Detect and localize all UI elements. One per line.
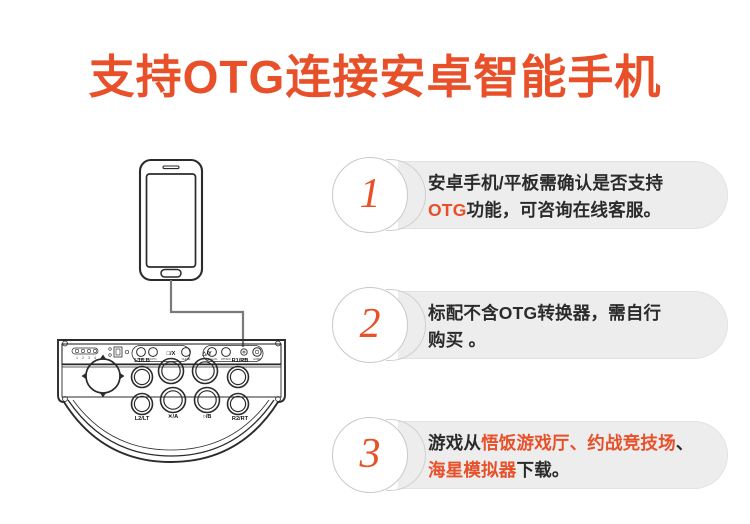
svg-text:L2/LT: L2/LT [135, 416, 150, 422]
svg-text:ATTACK: ATTACK [221, 357, 231, 361]
button-r1-rb: R1/RB [228, 358, 249, 388]
step-number-circle-2: 2 [332, 287, 408, 363]
svg-text:4: 4 [94, 356, 96, 360]
device-illustration: 1 2 3 4 TURBO [40, 150, 330, 500]
step-text-3: 游戏从悟饭游戏厅、约战竞技场、 海星模拟器下载。 [428, 427, 728, 487]
step-number-3: 3 [333, 418, 407, 492]
button-cross-a: ✕/A [161, 388, 186, 421]
step-number-circle-1: 1 [332, 157, 408, 233]
step-text-line: 游戏从悟饭游戏厅、约战竞技场、 [428, 430, 728, 457]
svg-text:2: 2 [82, 356, 84, 360]
step-number-2: 2 [333, 288, 407, 362]
svg-text:L1/LB: L1/LB [134, 358, 150, 364]
step-text-line: 海星模拟器下载。 [428, 457, 728, 484]
svg-text:○/B: ○/B [203, 414, 212, 420]
joystick [82, 355, 125, 398]
svg-text:3: 3 [88, 356, 90, 360]
step-text-line: 购买 。 [428, 327, 728, 354]
mode-switch-block [109, 347, 129, 357]
button-r2-rt: R2/RT [228, 394, 249, 423]
step-text-run: 游戏从 [428, 433, 481, 453]
step-item-2: 2 标配不含OTG转换器，需自行 购买 。 [330, 285, 730, 377]
button-l1-lb: L1/LB [132, 358, 153, 388]
step-text-2: 标配不含OTG转换器，需自行 购买 。 [428, 297, 728, 357]
step-text-line: OTG功能，可咨询在线客服。 [428, 197, 728, 224]
step-item-3: 3 游戏从悟饭游戏厅、约战竞技场、 海星模拟器下载。 [330, 415, 730, 507]
svg-text:HOME: HOME [253, 357, 261, 361]
step-text-run: 、 [676, 433, 694, 453]
svg-text:CLEAR: CLEAR [182, 357, 191, 361]
otg-infographic-page: 支持OTG连接安卓智能手机 [0, 0, 750, 524]
svg-text:✕/A: ✕/A [168, 413, 178, 420]
step-number-1: 1 [333, 158, 407, 232]
step-text-run-highlight: 悟饭游戏厅、约战竞技场 [481, 433, 676, 453]
svg-text:R2/RT: R2/RT [232, 416, 249, 422]
step-text-line: 安卓手机/平板需确认是否支持 [428, 170, 728, 197]
svg-text:△/Y: △/Y [201, 350, 212, 357]
svg-text:AUTO: AUTO [149, 357, 156, 361]
step-text-run: 购买 。 [428, 330, 486, 350]
svg-text:R1/RB: R1/RB [232, 358, 249, 364]
step-text-line: 标配不含OTG转换器，需自行 [428, 300, 728, 327]
steps-list: 1 安卓手机/平板需确认是否支持 OTG功能，可咨询在线客服。 2 标配不含OT… [330, 150, 730, 510]
led-indicator-group: 1 2 3 4 [72, 348, 98, 360]
step-text-1: 安卓手机/平板需确认是否支持 OTG功能，可咨询在线客服。 [428, 167, 728, 227]
action-buttons-bottom-row: L2/LT ✕/A ○/B R2/RT [132, 388, 249, 423]
step-text-run-highlight: OTG [428, 200, 467, 220]
step-text-run: 下载。 [517, 460, 570, 480]
svg-text:1: 1 [76, 356, 78, 360]
step-text-run: 安卓手机/平板需确认是否支持 [428, 173, 663, 193]
step-text-run-highlight: 海星模拟器 [428, 460, 517, 480]
android-phone-icon [140, 160, 202, 280]
step-text-run: 功能，可咨询在线客服。 [467, 200, 662, 220]
otg-cable-icon [171, 280, 243, 347]
step-text-run: 标配不含OTG转换器，需自行 [428, 303, 661, 323]
page-title: 支持OTG连接安卓智能手机 [0, 48, 750, 106]
button-l2-lt: L2/LT [132, 394, 153, 423]
step-number-circle-3: 3 [332, 417, 408, 493]
arcade-fight-stick-icon: 1 2 3 4 TURBO [58, 340, 285, 462]
button-circle-b: ○/B [195, 388, 220, 421]
svg-text:□/X: □/X [167, 351, 176, 357]
step-item-1: 1 安卓手机/平板需确认是否支持 OTG功能，可咨询在线客服。 [330, 155, 730, 247]
